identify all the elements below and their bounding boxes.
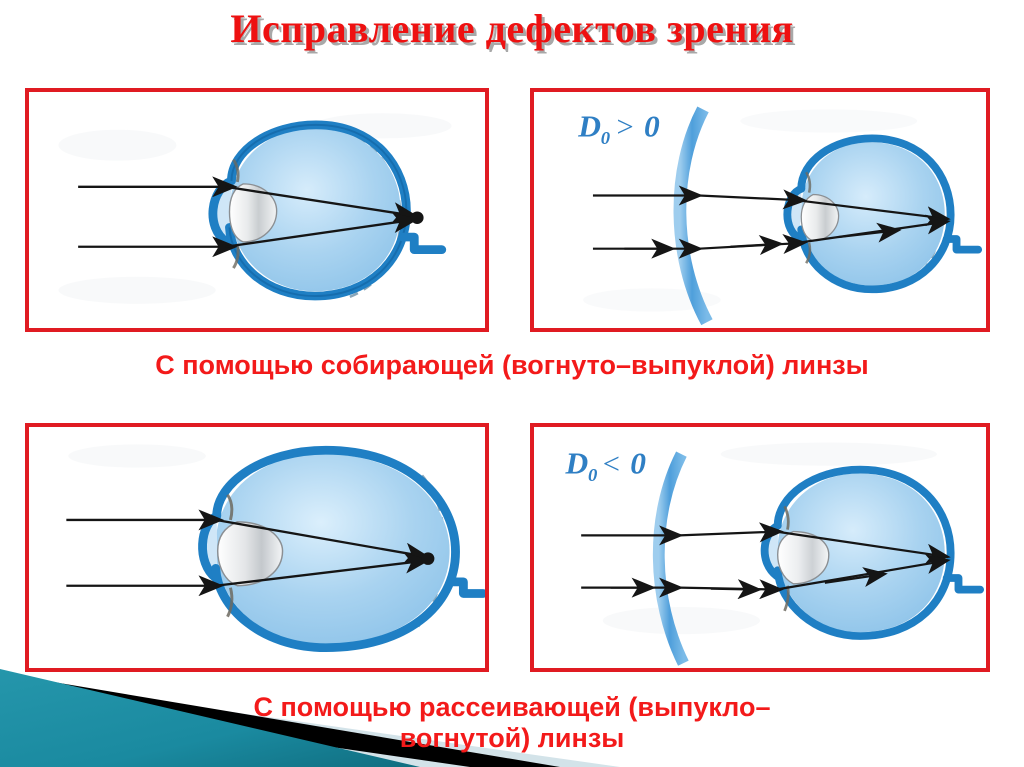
optic-nerve (402, 237, 441, 250)
label-value: 0 (630, 446, 646, 481)
label-value: 0 (644, 109, 660, 144)
focal-point-behind-retina (411, 211, 424, 224)
optic-nerve (452, 582, 483, 594)
optic-nerve (947, 578, 980, 590)
caption-diverging-lens: С помощью рассеивающей (выпукло– вогнуто… (0, 692, 1024, 754)
diagram-panel-myopic-corrected: D 0 < 0 (530, 423, 990, 672)
myopic-corrected-figure: D 0 < 0 (534, 427, 986, 668)
hyperopic-uncorrected-figure (29, 92, 485, 328)
caption-diverging-line2: вогнутой) линзы (132, 723, 892, 754)
label-symbol: D (564, 446, 588, 481)
label-subscript: 0 (588, 465, 597, 486)
diagram-panel-myopic-uncorrected (25, 423, 489, 672)
diagram-panel-hyperopic-corrected: D 0 > 0 (530, 88, 990, 332)
slide-root: Исправление дефектов зрения (0, 0, 1024, 767)
optical-power-label: D 0 > 0 (577, 109, 660, 149)
caption-diverging-line1: С помощью рассеивающей (выпукло– (132, 692, 892, 723)
label-relation: > (617, 110, 634, 144)
label-relation: < (603, 447, 620, 481)
page-title: Исправление дефектов зрения (0, 8, 1024, 50)
label-subscript: 0 (601, 128, 610, 149)
hyperopic-corrected-figure: D 0 > 0 (534, 92, 986, 328)
caption-converging-lens: С помощью собирающей (вогнуто–выпуклой) … (0, 350, 1024, 381)
incoming-rays (66, 520, 219, 586)
optical-power-label: D 0 < 0 (564, 446, 646, 486)
focal-point-before-retina (422, 552, 435, 565)
myopic-uncorrected-figure (29, 427, 485, 668)
diagram-panel-hyperopic-uncorrected (25, 88, 489, 332)
optic-nerve (947, 239, 978, 250)
label-symbol: D (577, 109, 601, 144)
